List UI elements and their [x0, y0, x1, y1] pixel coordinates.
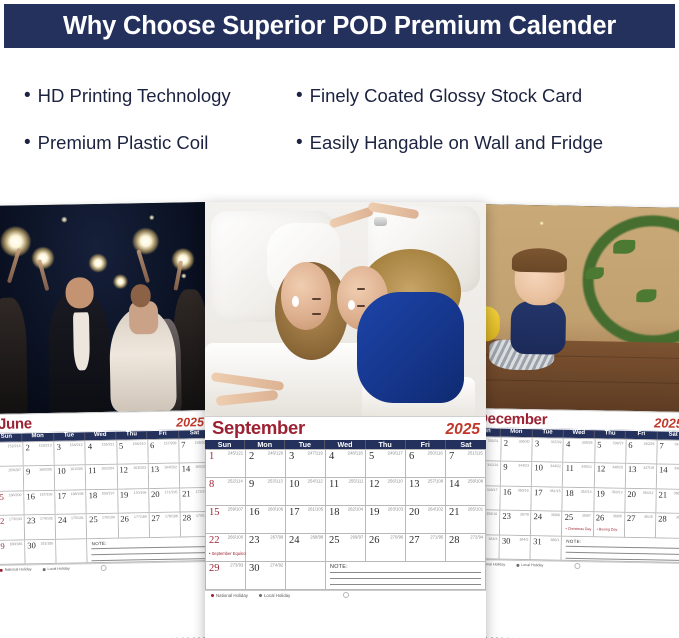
day-cell[interactable]: 16350/16 — [501, 486, 533, 511]
day-of-year-meta: 181/185 — [41, 541, 54, 545]
day-number: 11 — [566, 464, 574, 473]
day-cell[interactable]: 28362/4 — [656, 513, 679, 538]
day-of-year-meta: 169/197 — [102, 491, 115, 495]
day-cell[interactable]: 10344/22 — [532, 462, 564, 487]
day-of-year-meta: 176/190 — [102, 516, 115, 520]
day-cell[interactable]: 3154/212 — [55, 441, 87, 466]
day-number: 21 — [449, 508, 460, 519]
weekday-header-thu: Thu — [366, 440, 406, 449]
note-write-line[interactable] — [330, 584, 481, 585]
day-cell[interactable]: 11345/21 — [563, 463, 595, 488]
day-cell[interactable]: 3337/29 — [533, 438, 565, 463]
day-cell[interactable]: 20171/195 — [149, 488, 181, 513]
note-write-line[interactable] — [566, 546, 679, 549]
day-cell[interactable]: 23267/99 — [246, 534, 286, 562]
day-number: 14 — [659, 465, 668, 474]
day-grid: 1152/2142153/2133154/2124155/2115156/210… — [0, 437, 213, 564]
day-cell[interactable]: 3247/119 — [286, 450, 326, 478]
day-cell[interactable]: 25269/97 — [326, 534, 366, 562]
local-holiday-swatch-icon — [259, 594, 262, 597]
day-cell[interactable]: 27178/188 — [149, 513, 181, 538]
day-cell[interactable]: 13347/19 — [626, 464, 658, 489]
day-number: 11 — [88, 466, 96, 475]
day-number: 25 — [329, 536, 340, 547]
day-of-year-meta: 252/114 — [228, 480, 243, 484]
day-cell[interactable]: 1245/121 — [206, 450, 246, 478]
day-of-year-meta: 269/97 — [350, 536, 363, 540]
day-cell[interactable]: 22173/193 — [0, 515, 25, 540]
couple-on-bed-photo — [205, 202, 486, 416]
bullet-icon: • — [24, 133, 31, 152]
day-number: 16 — [26, 492, 35, 501]
note-area[interactable]: NOTE: — [562, 536, 679, 563]
day-number: 18 — [89, 491, 98, 500]
day-cell[interactable]: 5339/27 — [595, 439, 627, 464]
day-number: 3 — [57, 442, 61, 451]
day-of-year-meta: 154/212 — [70, 443, 83, 447]
weekday-header-wed: Wed — [85, 432, 116, 440]
day-of-year-meta: 180/186 — [9, 542, 22, 546]
day-of-year-meta: 175/191 — [71, 516, 84, 520]
day-cell[interactable]: 17168/198 — [56, 490, 88, 515]
day-grid: 1335/312336/303337/294338/285339/276340/… — [468, 435, 679, 562]
day-cell[interactable]: 24268/98 — [286, 534, 326, 562]
day-number: 23 — [27, 516, 36, 525]
day-number: 21 — [182, 489, 191, 498]
day-number: 19 — [596, 489, 605, 498]
weekday-header-wed: Wed — [325, 440, 365, 449]
day-cell[interactable]: 16260/106 — [246, 506, 286, 534]
day-of-year-meta: 264/102 — [428, 508, 443, 512]
month-name: December — [477, 411, 547, 427]
day-cell[interactable]: 21265/101 — [446, 506, 486, 534]
day-number: 13 — [409, 480, 420, 491]
day-cell[interactable]: 15259/107 — [206, 506, 246, 534]
day-cell[interactable]: 17261/105 — [286, 506, 326, 534]
day-cell[interactable]: 13257/109 — [406, 478, 446, 506]
day-number: 12 — [597, 464, 606, 473]
day-number: 2 — [25, 443, 29, 452]
day-number: 26 — [369, 536, 380, 547]
day-number: 10 — [289, 480, 300, 491]
day-cell[interactable]: 9253/113 — [246, 478, 286, 506]
product-feature-image: Why Choose Superior POD Premium Calender… — [0, 0, 679, 638]
day-number: 27 — [151, 514, 160, 523]
day-of-year-meta: 345/21 — [581, 465, 592, 469]
day-number: 25 — [89, 515, 98, 524]
feature-label: Easily Hangable on Wall and Fridge — [310, 132, 603, 154]
day-number: 6 — [628, 440, 632, 449]
day-cell[interactable]: 14348/18 — [657, 464, 679, 489]
weekday-header-fri: Fri — [626, 431, 657, 439]
day-cell[interactable]: 4338/28 — [564, 438, 596, 463]
day-cell[interactable]: 29273/93 — [206, 562, 246, 590]
day-of-year-meta: 353/13 — [612, 490, 623, 494]
day-of-year-meta: 274/92 — [270, 564, 283, 568]
day-of-year-meta: 363/3 — [488, 537, 497, 541]
day-of-year-meta: 271/95 — [430, 536, 443, 540]
note-area[interactable]: NOTE: — [88, 536, 213, 563]
day-cell[interactable]: 26177/189 — [118, 513, 150, 538]
month-year: 2025 — [654, 416, 679, 430]
day-of-year-meta: 255/111 — [348, 480, 363, 484]
wedding-sparklers-photo — [0, 202, 210, 414]
day-of-year-meta: 351/15 — [549, 489, 560, 493]
empty-cell — [286, 562, 326, 590]
day-of-year-meta: 251/115 — [468, 452, 483, 456]
day-cell[interactable]: 18262/104 — [326, 506, 366, 534]
day-of-year-meta: 163/203 — [133, 466, 146, 470]
day-number: 2 — [249, 452, 254, 463]
note-write-line[interactable] — [92, 546, 208, 549]
day-number: 22 — [209, 536, 220, 547]
feature-label: HD Printing Technology — [38, 85, 231, 107]
day-number: 21 — [658, 490, 667, 499]
day-number: 7 — [659, 441, 663, 450]
day-of-year-meta: 357/9 — [520, 513, 529, 517]
day-of-year-meta: 356/10 — [487, 512, 498, 516]
day-number: 29 — [209, 564, 220, 575]
day-number: 27 — [409, 536, 420, 547]
day-cell[interactable]: 30364/2 — [500, 535, 532, 560]
day-of-year-meta: 178/188 — [165, 515, 178, 519]
day-cell[interactable]: 2153/213 — [23, 441, 55, 466]
feature-label: Premium Plastic Coil — [38, 132, 209, 154]
day-number: 11 — [329, 480, 339, 491]
day-number: 13 — [628, 465, 637, 474]
day-number: 22 — [0, 517, 4, 526]
day-number: 18 — [329, 508, 340, 519]
day-cell[interactable]: 2336/30 — [501, 437, 533, 462]
day-cell[interactable]: 18352/14 — [563, 487, 595, 512]
day-number: 23 — [502, 512, 511, 521]
weekday-header-sun: Sun — [0, 433, 23, 441]
bullet-icon: • — [296, 133, 303, 152]
weekday-header-tue: Tue — [532, 429, 563, 437]
day-cell[interactable]: 4248/118 — [326, 450, 366, 478]
day-number: 29 — [0, 541, 5, 550]
note-write-line[interactable] — [566, 552, 679, 555]
local-holiday-swatch-icon — [42, 568, 45, 571]
day-cell[interactable]: 30274/92 — [246, 562, 286, 590]
local-holiday-swatch-icon — [516, 563, 519, 566]
day-of-year-meta: 340/26 — [644, 442, 655, 446]
day-cell[interactable]: 21355/11 — [656, 489, 679, 514]
weekday-header-tue: Tue — [54, 432, 85, 440]
day-cell[interactable]: 19353/13 — [594, 488, 626, 513]
day-number: 28 — [449, 536, 460, 547]
day-number: 27 — [627, 514, 636, 523]
hang-hole-icon — [100, 565, 106, 571]
day-of-year-meta: 352/14 — [580, 490, 591, 494]
month-name: June — [0, 416, 32, 432]
day-of-year-meta: 349/17 — [487, 488, 498, 492]
day-of-year-meta: 152/214 — [8, 444, 21, 448]
note-area[interactable]: NOTE: — [326, 562, 486, 590]
day-number: 17 — [534, 488, 543, 497]
day-number: 12 — [369, 480, 380, 491]
day-cell[interactable]: 5249/117 — [366, 450, 406, 478]
day-of-year-meta: 346/20 — [612, 466, 623, 470]
day-cell[interactable]: 11255/111 — [326, 478, 366, 506]
note-label: NOTE: — [566, 539, 679, 546]
day-cell[interactable]: 4155/211 — [86, 440, 118, 465]
weekday-header-wed: Wed — [564, 430, 595, 438]
day-of-year-meta: 265/101 — [468, 508, 483, 512]
day-of-year-meta: 365/1 — [550, 538, 559, 542]
day-of-year-meta: 253/113 — [268, 480, 283, 484]
weekday-header-sat: Sat — [446, 440, 486, 449]
day-number: 5 — [597, 440, 601, 449]
day-number: 19 — [120, 490, 129, 499]
legend-label: National Holiday — [216, 593, 248, 598]
day-cell[interactable]: 2246/120 — [246, 450, 286, 478]
day-of-year-meta: 257/109 — [428, 480, 443, 484]
day-number: 9 — [26, 467, 30, 476]
day-number: 4 — [566, 439, 570, 448]
baby-with-wreath-photo — [470, 204, 679, 412]
day-of-year-meta: 171/195 — [164, 490, 177, 494]
day-of-year-meta: 342/24 — [487, 463, 498, 467]
day-of-year-meta: 348/18 — [674, 467, 679, 471]
legend-label: Local Holiday — [264, 593, 290, 598]
day-cell[interactable]: 10161/205 — [55, 465, 87, 490]
day-cell[interactable]: 23357/9 — [500, 511, 532, 536]
weekday-header-mon: Mon — [245, 440, 285, 449]
day-of-year-meta: 259/107 — [228, 508, 243, 512]
day-number: 5 — [369, 452, 374, 463]
day-number: 10 — [57, 467, 66, 476]
day-of-year-meta: 167/199 — [40, 492, 53, 496]
day-cell[interactable]: 7251/115 — [446, 450, 486, 478]
day-cell[interactable]: 31365/1 — [531, 536, 563, 561]
day-of-year-meta: 157/209 — [163, 441, 176, 445]
day-cell[interactable]: 12256/110 — [366, 478, 406, 506]
day-cell[interactable]: 16167/199 — [24, 490, 56, 515]
day-of-year-meta: 268/98 — [310, 536, 323, 540]
day-cell[interactable]: 26270/96 — [366, 534, 406, 562]
note-write-line[interactable] — [92, 552, 208, 555]
legend-label: Local Holiday — [521, 563, 543, 567]
day-number: 2 — [504, 438, 508, 447]
note-write-line[interactable] — [330, 572, 481, 573]
day-grid: 1245/1212246/1203247/1194248/1185249/117… — [205, 449, 486, 590]
day-of-year-meta: 262/104 — [348, 508, 363, 512]
day-of-year-meta: 164/202 — [164, 466, 177, 470]
day-cell[interactable]: 20354/12 — [625, 488, 657, 513]
day-cell[interactable]: 18169/197 — [87, 489, 119, 514]
day-number: 3 — [289, 452, 294, 463]
bullet-icon: • — [296, 86, 303, 105]
day-cell[interactable]: 23174/192 — [25, 515, 57, 540]
day-of-year-meta: 173/193 — [9, 517, 22, 521]
day-number: 26 — [120, 515, 129, 524]
day-number: 17 — [289, 508, 300, 519]
day-cell[interactable]: 27361/5 — [625, 513, 657, 538]
day-of-year-meta: 267/99 — [270, 536, 283, 540]
feature-label: Finely Coated Glossy Stock Card — [310, 85, 582, 107]
day-number: 15 — [0, 492, 4, 501]
day-cell[interactable]: 8159/207 — [0, 466, 24, 491]
feature-list: • HD Printing Technology • Finely Coated… — [0, 72, 679, 166]
day-number: 16 — [249, 508, 260, 519]
day-number: 12 — [119, 466, 128, 475]
day-of-year-meta: 245/121 — [228, 452, 243, 456]
calendar-sheet: September 2025 SunMonTueWedThuFriSat 124… — [205, 416, 486, 600]
calendar-sheet: December 2025 SunMonTueWedThuFriSat 1335… — [467, 408, 679, 572]
month-name: September — [212, 419, 305, 438]
day-cell[interactable]: 7341/25 — [657, 440, 679, 465]
day-cell[interactable]: 28272/94 — [446, 534, 486, 562]
day-cell[interactable]: 17351/15 — [532, 487, 564, 512]
day-of-year-meta: 273/93 — [230, 564, 243, 568]
day-cell[interactable]: 13164/202 — [148, 464, 180, 489]
weekday-header-sun: Sun — [205, 440, 245, 449]
day-cell[interactable]: 19170/196 — [118, 489, 150, 514]
day-number: 6 — [150, 441, 154, 450]
holiday-legend: National Holiday Local Holiday — [205, 590, 486, 600]
day-cell[interactable]: 15166/200 — [0, 491, 25, 516]
day-cell[interactable]: 25176/190 — [87, 514, 119, 539]
day-cell[interactable]: 30181/185 — [25, 539, 57, 564]
day-number: 24 — [58, 516, 67, 525]
day-number: 14 — [449, 480, 460, 491]
day-number: 9 — [249, 480, 254, 491]
calendar-center-september: September 2025 SunMonTueWedThuFriSat 124… — [205, 202, 486, 638]
weekday-header-mon: Mon — [501, 429, 532, 437]
day-number: 28 — [183, 513, 192, 522]
day-number: 6 — [409, 452, 414, 463]
day-of-year-meta: 335/31 — [488, 439, 499, 443]
day-number: 19 — [369, 508, 380, 519]
day-number: 15 — [209, 508, 220, 519]
note-label: NOTE: — [330, 565, 481, 570]
calendar-showcase: June 2025 SunMonTueWedThuFriSat 1152/214… — [0, 186, 679, 638]
day-of-year-meta: 266/100 — [228, 536, 243, 540]
holiday-event-label: • September Equinox — [209, 552, 248, 557]
calendar-sheet: June 2025 SunMonTueWedThuFriSat 1152/214… — [0, 410, 213, 574]
day-cell[interactable]: 6157/209 — [148, 439, 180, 464]
day-of-year-meta: 161/205 — [70, 467, 83, 471]
day-of-year-meta: 250/116 — [428, 452, 443, 456]
note-write-line[interactable] — [330, 578, 481, 579]
day-of-year-meta: 160/206 — [39, 468, 52, 472]
day-of-year-meta: 364/2 — [519, 537, 528, 541]
weekday-header-thu: Thu — [595, 430, 626, 438]
day-cell[interactable]: 9343/23 — [501, 462, 533, 487]
day-number: 18 — [565, 488, 574, 497]
holiday-event-label: • Christmas Day — [565, 527, 591, 532]
day-cell[interactable]: 12346/20 — [594, 463, 626, 488]
day-of-year-meta: 156/210 — [132, 442, 145, 446]
day-number: 20 — [151, 489, 160, 498]
day-cell[interactable]: 6250/116 — [406, 450, 446, 478]
weekday-header-sat: Sat — [657, 431, 679, 439]
day-cell[interactable]: 1152/214 — [0, 442, 24, 467]
day-cell[interactable]: 20264/102 — [406, 506, 446, 534]
feature-item-hangable: • Easily Hangable on Wall and Fridge — [283, 132, 679, 154]
day-number: 20 — [627, 489, 636, 498]
day-number: 7 — [181, 440, 185, 449]
day-cell[interactable]: 26360/6• Boxing Day — [593, 512, 625, 537]
day-cell[interactable]: 24358/8 — [531, 511, 563, 536]
day-cell[interactable]: 12163/203 — [117, 464, 149, 489]
day-number: 10 — [534, 463, 543, 472]
national-holiday-swatch-icon — [0, 568, 3, 571]
day-cell[interactable]: 9160/206 — [24, 466, 56, 491]
day-number: 25 — [565, 513, 574, 522]
day-number: 28 — [658, 514, 667, 523]
day-number: 23 — [249, 536, 260, 547]
page-title: Why Choose Superior POD Premium Calender — [63, 12, 616, 41]
day-cell[interactable]: 24175/191 — [56, 514, 88, 539]
day-cell[interactable]: 10254/112 — [286, 478, 326, 506]
day-cell[interactable]: 6340/26 — [626, 439, 658, 464]
month-year: 2025 — [446, 422, 480, 438]
day-number: 30 — [249, 564, 260, 575]
day-of-year-meta: 247/119 — [308, 452, 323, 456]
day-cell[interactable]: 14258/108 — [446, 478, 486, 506]
feature-item-glossy-stock: • Finely Coated Glossy Stock Card — [283, 85, 679, 107]
day-cell[interactable]: 22266/100• September Equinox — [206, 534, 246, 562]
day-of-year-meta: 248/118 — [348, 452, 363, 456]
day-of-year-meta: 360/6 — [613, 515, 622, 519]
day-cell[interactable]: 19263/103 — [366, 506, 406, 534]
header-banner: Why Choose Superior POD Premium Calender — [4, 4, 675, 48]
legend-local-holiday: Local Holiday — [42, 567, 69, 571]
day-of-year-meta: 249/117 — [388, 452, 403, 456]
day-of-year-meta: 261/105 — [308, 508, 323, 512]
day-of-year-meta: 347/19 — [643, 466, 654, 470]
legend-national-holiday: National Holiday — [211, 593, 248, 598]
day-of-year-meta: 256/110 — [388, 480, 403, 484]
weekday-header-tue: Tue — [285, 440, 325, 449]
day-of-year-meta: 354/12 — [643, 491, 654, 495]
day-cell[interactable]: 5156/210 — [117, 440, 149, 465]
day-of-year-meta: 361/5 — [644, 515, 653, 519]
day-cell[interactable]: 27271/95 — [406, 534, 446, 562]
day-of-year-meta: 159/207 — [8, 468, 21, 472]
day-cell[interactable]: 11162/204 — [86, 465, 118, 490]
note-label: NOTE: — [92, 540, 208, 547]
day-of-year-meta: 153/213 — [39, 443, 52, 447]
feature-item-hd-printing: • HD Printing Technology — [0, 85, 283, 107]
day-number: 1 — [209, 452, 214, 463]
day-of-year-meta: 263/103 — [388, 508, 403, 512]
day-number: 13 — [150, 465, 159, 474]
day-of-year-meta: 174/192 — [40, 517, 53, 521]
day-of-year-meta: 272/94 — [470, 536, 483, 540]
day-number: 3 — [535, 439, 539, 448]
day-of-year-meta: 260/106 — [268, 508, 283, 512]
day-of-year-meta: 155/211 — [101, 442, 114, 446]
holiday-event-label: • Boxing Day — [597, 528, 618, 533]
day-number: 9 — [503, 463, 507, 472]
day-number: 26 — [596, 513, 605, 522]
day-cell[interactable]: 8252/114 — [206, 478, 246, 506]
day-of-year-meta: 358/8 — [551, 513, 560, 517]
legend-national-holiday: National Holiday — [0, 567, 32, 572]
day-cell[interactable]: 25359/7• Christmas Day — [562, 512, 594, 537]
day-of-year-meta: 177/189 — [134, 515, 147, 519]
day-of-year-meta: 339/27 — [612, 441, 623, 445]
day-number: 4 — [88, 442, 92, 451]
weekday-header-row: SunMonTueWedThuFriSat — [205, 439, 486, 449]
day-cell[interactable]: 29180/186 — [0, 540, 26, 565]
day-number: 8 — [209, 480, 214, 491]
day-of-year-meta: 355/11 — [674, 491, 679, 495]
day-number: 31 — [533, 537, 542, 546]
